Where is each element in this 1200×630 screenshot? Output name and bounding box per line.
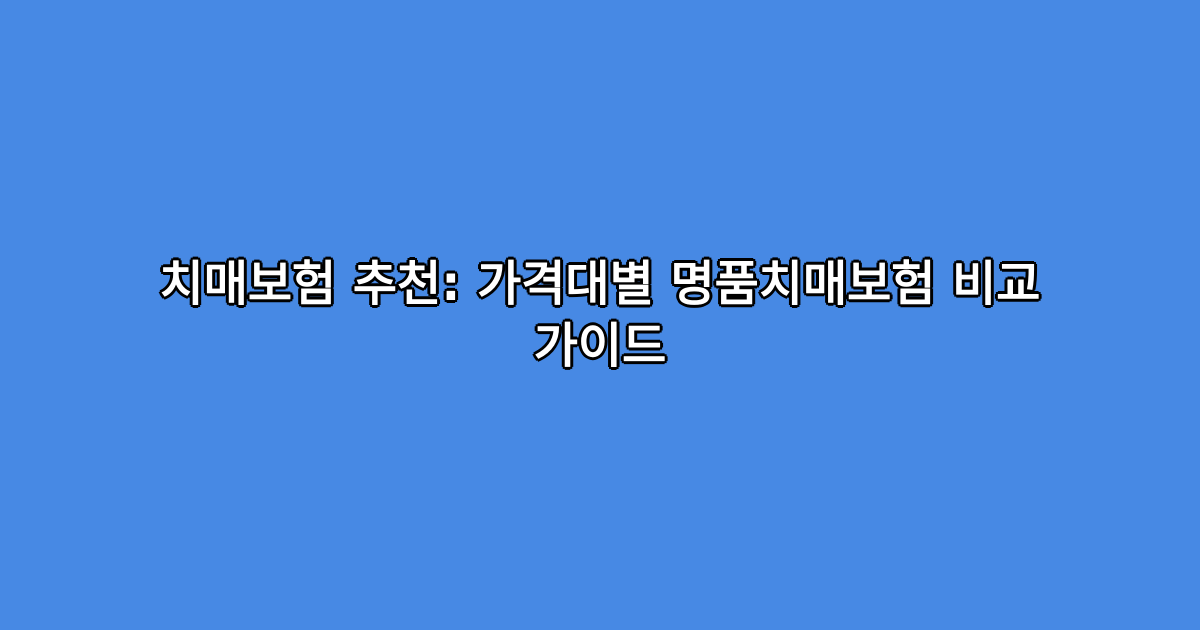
title-block: 치매보험 추천: 가격대별 명품치매보험 비교 가이드 [120, 253, 1080, 377]
page-title: 치매보험 추천: 가격대별 명품치매보험 비교 가이드 [130, 253, 1070, 377]
title-card: 치매보험 추천: 가격대별 명품치매보험 비교 가이드 [0, 0, 1200, 630]
